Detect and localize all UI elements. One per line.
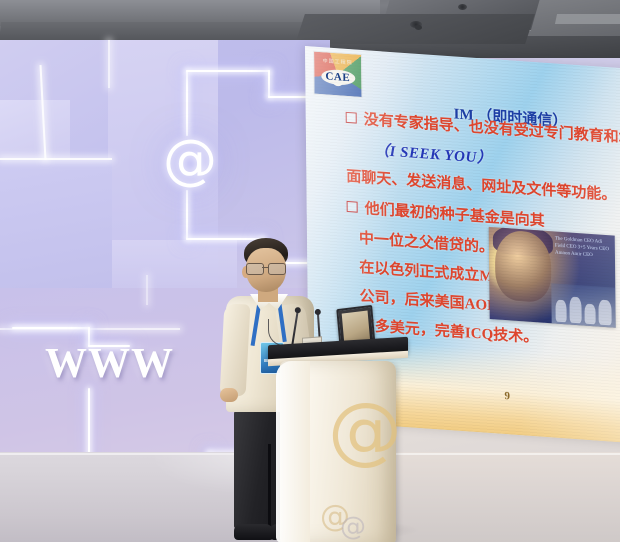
glasses-icon (246, 263, 286, 273)
floor-at-logo: @ (340, 512, 366, 542)
slide-text-line: （I SEEK YOU） (374, 139, 492, 168)
neon-circuit-line (186, 70, 270, 72)
ceiling-panel (555, 14, 620, 24)
at-symbol-icon: @ (163, 130, 211, 190)
bullet-marker-icon (346, 112, 357, 124)
slide-inset-photo: The Goldman CEO Adi Field CEO 3+5 Years … (489, 227, 616, 328)
cae-logo-chinese: 中国工程院 (314, 57, 361, 67)
wall-edge-light (146, 275, 148, 305)
photo-crowd (551, 283, 615, 328)
photo-crowd-person (555, 300, 566, 323)
screenshot-root: @ WWW 中国工程院 CAE IM （即时通信） 没有专家指导、也没有受过专门… (0, 0, 620, 542)
wall-edge-light (108, 40, 110, 88)
bullet-marker-icon (347, 201, 358, 213)
neon-circuit-line (186, 190, 188, 240)
photo-crowd-person (598, 300, 611, 326)
cae-logo-acronym: CAE (325, 70, 350, 84)
slide-text-line: 他们最初的种子基金是向其 (365, 197, 545, 231)
speaker-arm-left (220, 303, 251, 396)
downlight-icon (458, 4, 467, 10)
www-wall-lettering: WWW (45, 340, 174, 388)
speaker-leg-seam (268, 444, 271, 530)
podium-front-curve (276, 361, 310, 542)
photo-crowd-person (569, 297, 581, 324)
speaker-shoe (234, 524, 274, 540)
neon-circuit-line (12, 327, 90, 329)
wall-edge-light (0, 158, 112, 160)
photo-caption: The Goldman CEO Adi Field CEO 3+5 Years … (555, 235, 613, 260)
podium-at-logo: @ (328, 393, 402, 467)
podium: @ @ (272, 341, 404, 542)
neon-circuit-line (186, 70, 188, 136)
speaker-hand-left (220, 388, 238, 402)
photo-crowd-person (584, 304, 595, 325)
slide-page-number: 9 (504, 390, 510, 402)
cae-logo: 中国工程院 CAE (313, 51, 362, 98)
neon-circuit-line (268, 70, 270, 98)
downlight-icon (415, 25, 422, 30)
